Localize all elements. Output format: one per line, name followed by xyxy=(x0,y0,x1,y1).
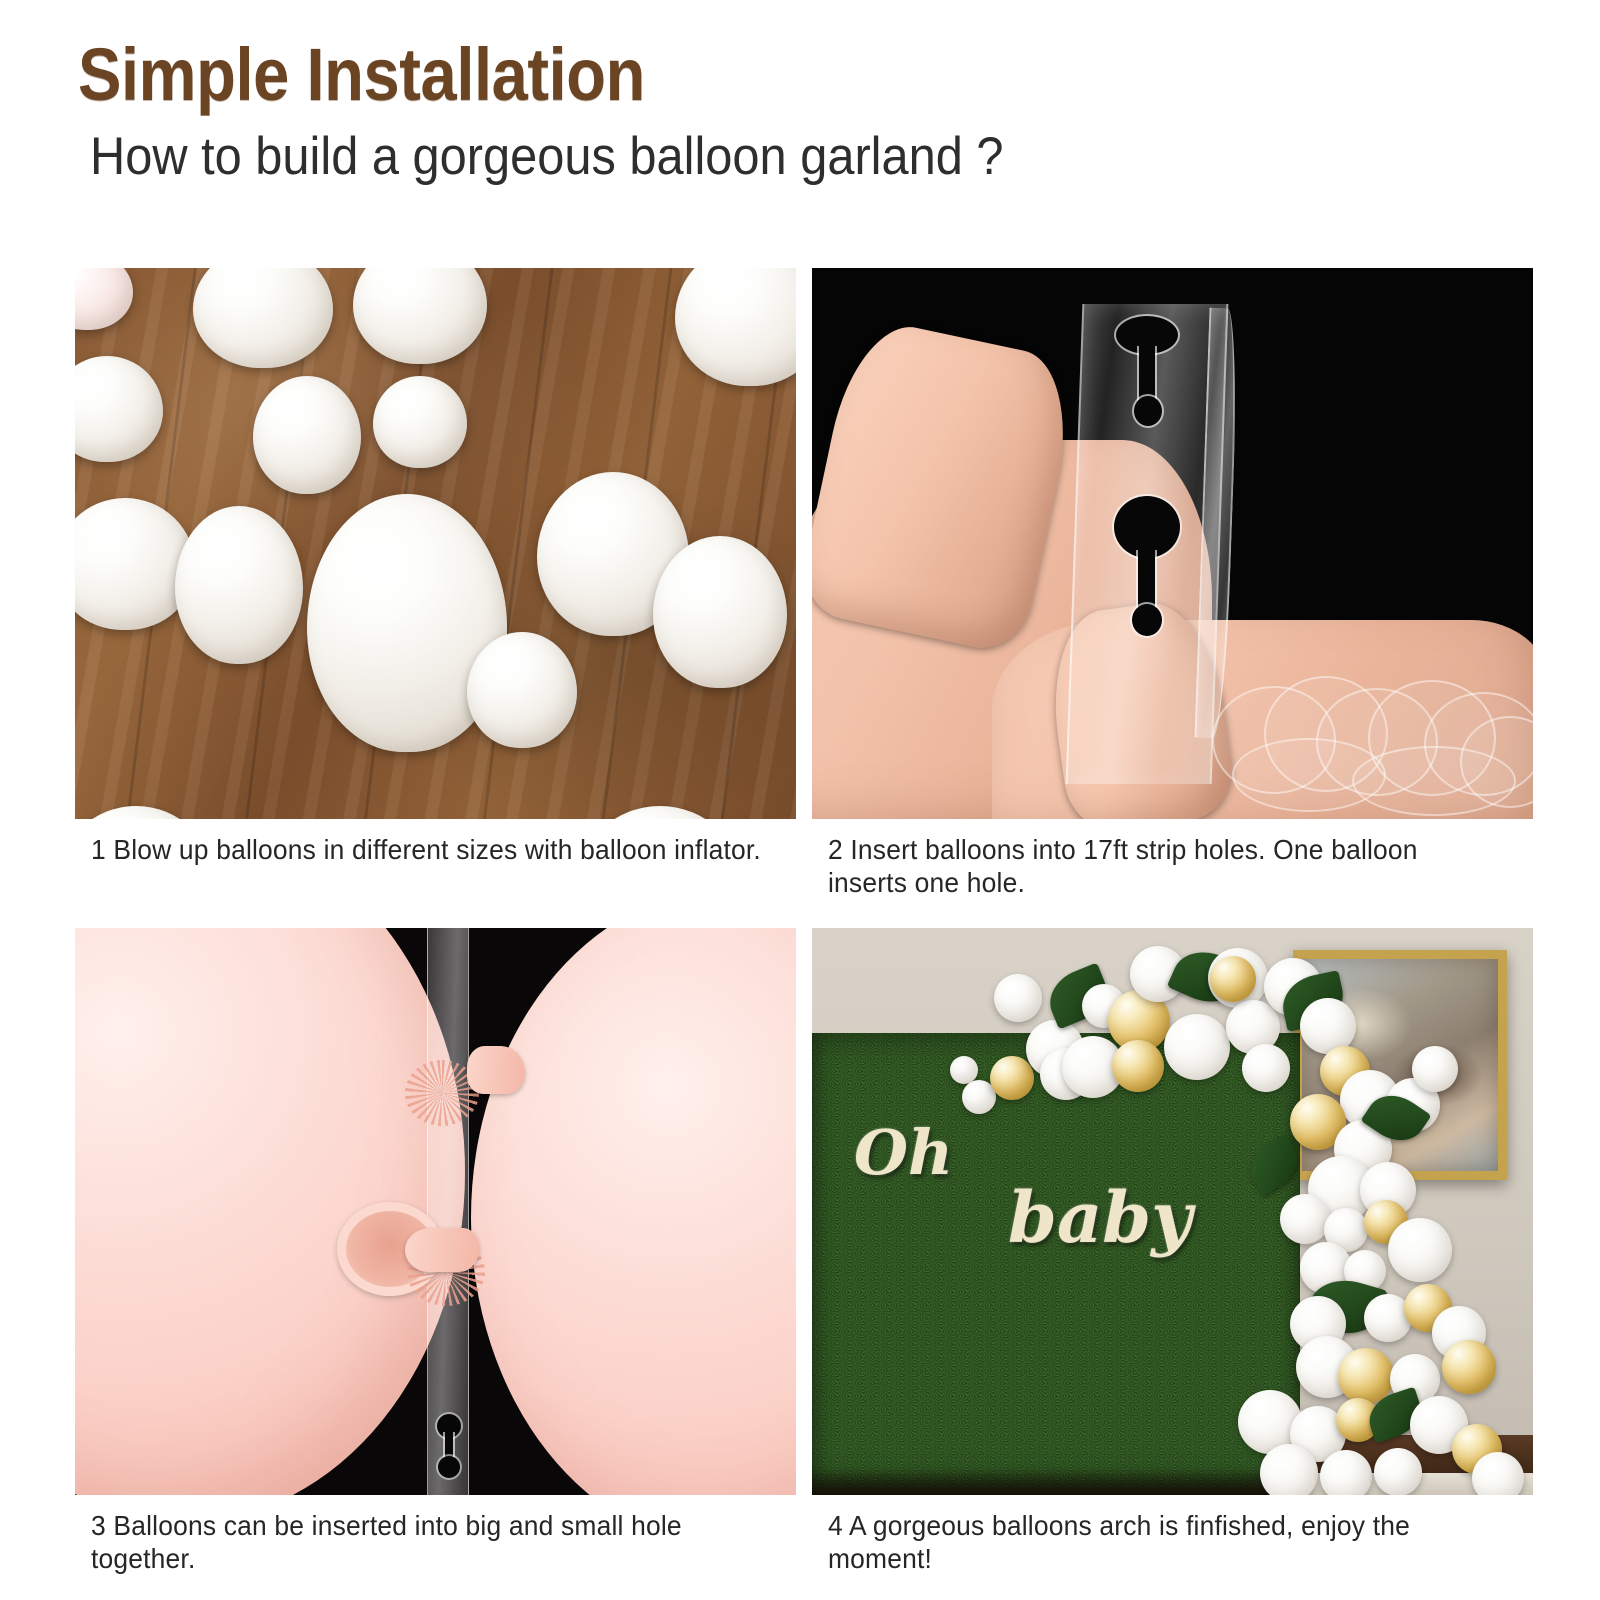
step-4: Oh baby xyxy=(812,928,1533,1575)
installation-steps-grid: 1 Blow up balloons in different sizes wi… xyxy=(75,268,1533,1568)
step-4-caption: 4 A gorgeous balloons arch is finfished,… xyxy=(828,1509,1500,1575)
white-balloon xyxy=(1374,1448,1422,1495)
step-2-caption: 2 Insert balloons into 17ft strip holes.… xyxy=(828,833,1500,899)
white-balloon xyxy=(1164,1014,1230,1080)
white-balloon xyxy=(994,974,1042,1022)
balloon-neck-top xyxy=(467,1046,525,1094)
strip-keyhole xyxy=(1110,496,1188,656)
gold-confetti-balloon xyxy=(1210,956,1256,1002)
grass-wall-shadow xyxy=(812,1469,1300,1495)
step-2: 2 Insert balloons into 17ft strip holes.… xyxy=(812,268,1533,899)
page-subtitle: How to build a gorgeous balloon garland … xyxy=(90,126,1422,188)
balloon xyxy=(653,536,787,688)
white-balloon xyxy=(1388,1218,1452,1282)
step-1-photo xyxy=(75,268,796,819)
white-balloon xyxy=(1320,1450,1372,1495)
white-balloon xyxy=(1242,1044,1290,1092)
page-header: Simple Installation How to build a gorge… xyxy=(78,34,1538,188)
page-title: Simple Installation xyxy=(78,34,1363,116)
step-3: 3 Balloons can be inserted into big and … xyxy=(75,928,796,1575)
balloon xyxy=(467,632,577,748)
gold-confetti-balloon xyxy=(990,1056,1034,1100)
step-3-caption: 3 Balloons can be inserted into big and … xyxy=(91,1509,763,1575)
step-1: 1 Blow up balloons in different sizes wi… xyxy=(75,268,796,866)
oh-baby-sign-line1: Oh xyxy=(854,1116,953,1189)
balloon-neck-bottom xyxy=(405,1228,479,1272)
gold-confetti-balloon xyxy=(1112,1040,1164,1092)
step-3-photo xyxy=(75,928,796,1495)
balloon xyxy=(373,376,467,468)
balloon xyxy=(175,506,303,664)
step-1-caption: 1 Blow up balloons in different sizes wi… xyxy=(91,833,763,866)
white-balloon xyxy=(1412,1046,1458,1092)
oh-baby-sign-line2: baby xyxy=(1008,1176,1192,1259)
step-4-photo: Oh baby xyxy=(812,928,1533,1495)
white-balloon xyxy=(1260,1444,1318,1495)
step-2-photo xyxy=(812,268,1533,819)
gold-confetti-balloon xyxy=(1442,1340,1496,1394)
strip-keyhole xyxy=(433,1414,467,1492)
grass-wall-backdrop xyxy=(812,1033,1300,1495)
strip-keyhole xyxy=(1112,316,1182,438)
white-balloon xyxy=(1280,1194,1330,1244)
balloon xyxy=(253,376,361,494)
white-balloon xyxy=(1472,1452,1524,1495)
strip-coil xyxy=(1352,746,1516,816)
balloon-strip xyxy=(427,928,469,1495)
